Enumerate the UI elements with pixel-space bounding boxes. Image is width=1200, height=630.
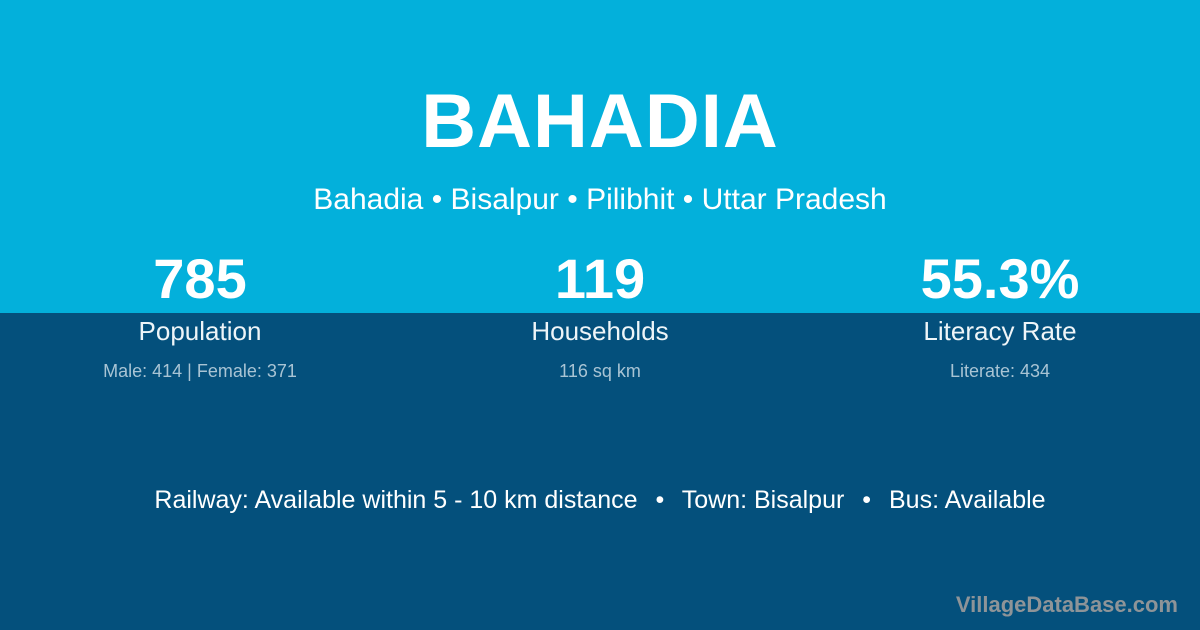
stat-label: Population	[0, 312, 400, 349]
stat-value: 55.3%	[800, 246, 1200, 312]
breadcrumb: Bahadia • Bisalpur • Pilibhit • Uttar Pr…	[0, 182, 1200, 218]
stat-value: 119	[400, 246, 800, 312]
stat-sublabel: 116 sq km	[400, 349, 800, 383]
stat-sublabel: Male: 414 | Female: 371	[0, 349, 400, 383]
amenity-separator: •	[851, 485, 882, 515]
amenity-town: Town: Bisalpur	[682, 486, 845, 514]
amenity-railway: Railway: Available within 5 - 10 km dist…	[154, 486, 637, 514]
stat-population: 785 Population Male: 414 | Female: 371	[0, 246, 400, 383]
site-branding: VillageDataBase.com	[956, 592, 1178, 618]
stat-sublabel: Literate: 434	[800, 349, 1200, 383]
stat-households: 119 Households 116 sq km	[400, 246, 800, 383]
amenity-separator: •	[644, 485, 675, 515]
amenity-bus: Bus: Available	[889, 486, 1046, 514]
village-info-card: BAHADIA Bahadia • Bisalpur • Pilibhit • …	[0, 0, 1200, 630]
stats-row: 785 Population Male: 414 | Female: 371 1…	[0, 246, 1200, 383]
amenities-line: Railway: Available within 5 - 10 km dist…	[0, 485, 1200, 515]
page-title: BAHADIA	[0, 84, 1200, 160]
stat-label: Literacy Rate	[800, 312, 1200, 349]
stat-label: Households	[400, 312, 800, 349]
stat-value: 785	[0, 246, 400, 312]
stat-literacy-rate: 55.3% Literacy Rate Literate: 434	[800, 246, 1200, 383]
